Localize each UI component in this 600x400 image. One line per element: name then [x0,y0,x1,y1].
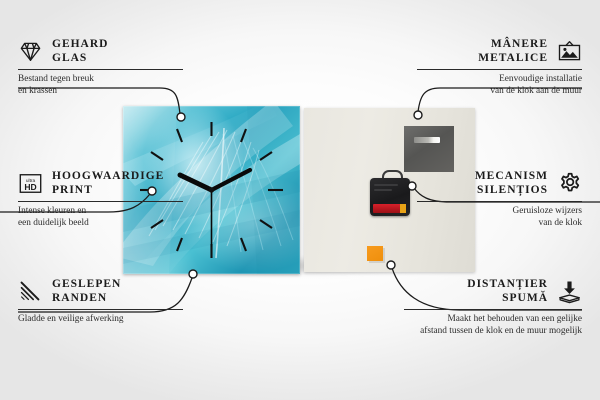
hanger-slot [414,137,440,143]
feature-description: Maakt het behouden van een gelijke afsta… [404,314,582,337]
mechanism-ridge [374,189,392,191]
feature-description: Bestand tegen breuk en krassen [18,74,183,97]
feature-divider [417,69,582,70]
feature-gehard-glas: GEHARD GLAS Bestand tegen breuk en krass… [18,38,183,97]
feature-divider [417,201,582,202]
feature-header: DISTANȚIER SPUMĂ [404,278,582,305]
gear-icon [557,171,582,196]
feature-header: GESLEPEN RANDEN [18,278,183,305]
feature-header: ultra HD HOOGWAARDIGE PRINT [18,170,183,197]
feature-title: GEHARD GLAS [52,38,108,65]
picture-frame-icon [557,39,582,64]
feature-header: GEHARD GLAS [18,38,183,65]
infographic-canvas: GEHARD GLAS Bestand tegen breuk en krass… [0,0,600,400]
feature-divider [18,69,183,70]
feature-hoogwaardige-print: ultra HD HOOGWAARDIGE PRINT Intense kleu… [18,170,183,229]
feature-title: DISTANȚIER SPUMĂ [467,278,548,305]
svg-text:HD: HD [24,182,36,192]
feature-mecanism-silentios: MECANISM SILENȚIOS Geruisloze wijzers va… [417,170,582,229]
beveled-edges-icon [18,279,43,304]
ultra-hd-icon: ultra HD [18,171,43,196]
feature-divider [18,309,183,310]
feature-title: MECANISM SILENȚIOS [475,170,548,197]
mechanism-ridge [374,184,398,186]
feature-description: Gladde en veilige afwerking [18,314,183,326]
spacer-arrow-icon [557,279,582,304]
feature-header: MÂNERE METALICE [417,38,582,65]
feature-title: MÂNERE METALICE [478,38,548,65]
feature-description: Intense kleuren en een duidelijk beeld [18,206,183,229]
diamond-icon [18,39,43,64]
battery [373,204,406,213]
feature-description: Geruisloze wijzers van de klok [417,206,582,229]
feature-header: MECANISM SILENȚIOS [417,170,582,197]
battery-terminal [400,204,406,213]
feature-distantier-spuma: DISTANȚIER SPUMĂ Maakt het behouden van … [404,278,582,337]
feature-description: Eenvoudige installatie van de klok aan d… [417,74,582,97]
feature-title: GESLEPEN RANDEN [52,278,121,305]
foam-spacer [367,246,383,261]
feature-geslepen-randen: GESLEPEN RANDEN Gladde en veilige afwerk… [18,278,183,326]
clock-mechanism [370,178,410,216]
mounting-plate [404,126,454,172]
feature-divider [404,309,582,310]
feature-divider [18,201,183,202]
feature-manere-metalice: MÂNERE METALICE Eenvoudige installatie v… [417,38,582,97]
feature-title: HOOGWAARDIGE PRINT [52,170,164,197]
